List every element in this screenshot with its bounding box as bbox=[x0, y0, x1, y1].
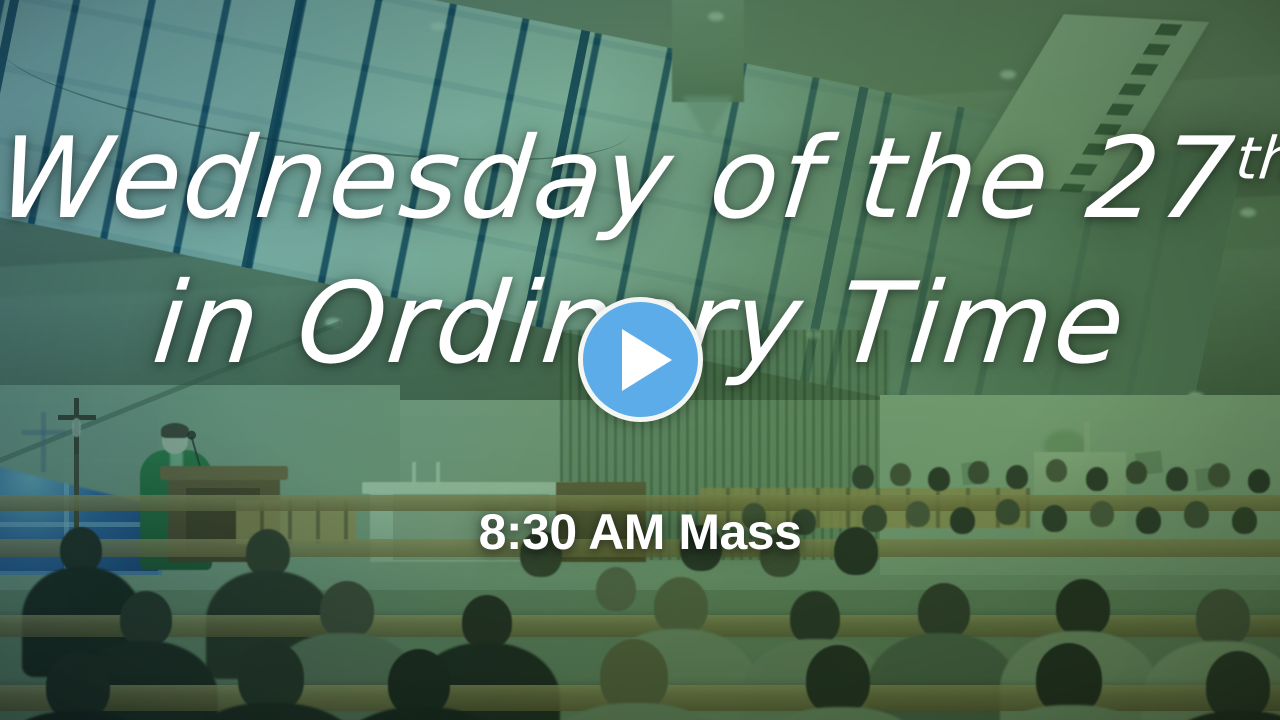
title-ordinal-suffix: th bbox=[1233, 125, 1280, 193]
title-line-1-text: Wednesday of the 27 bbox=[0, 114, 1241, 244]
play-button[interactable] bbox=[578, 297, 703, 422]
video-player[interactable]: Wednesday of the 27th Week in Ordinary T… bbox=[0, 0, 1280, 720]
title-line-1: Wednesday of the 27th Week bbox=[0, 128, 1280, 231]
subtitle: 8:30 AM Mass bbox=[0, 503, 1280, 561]
play-icon bbox=[622, 329, 672, 391]
